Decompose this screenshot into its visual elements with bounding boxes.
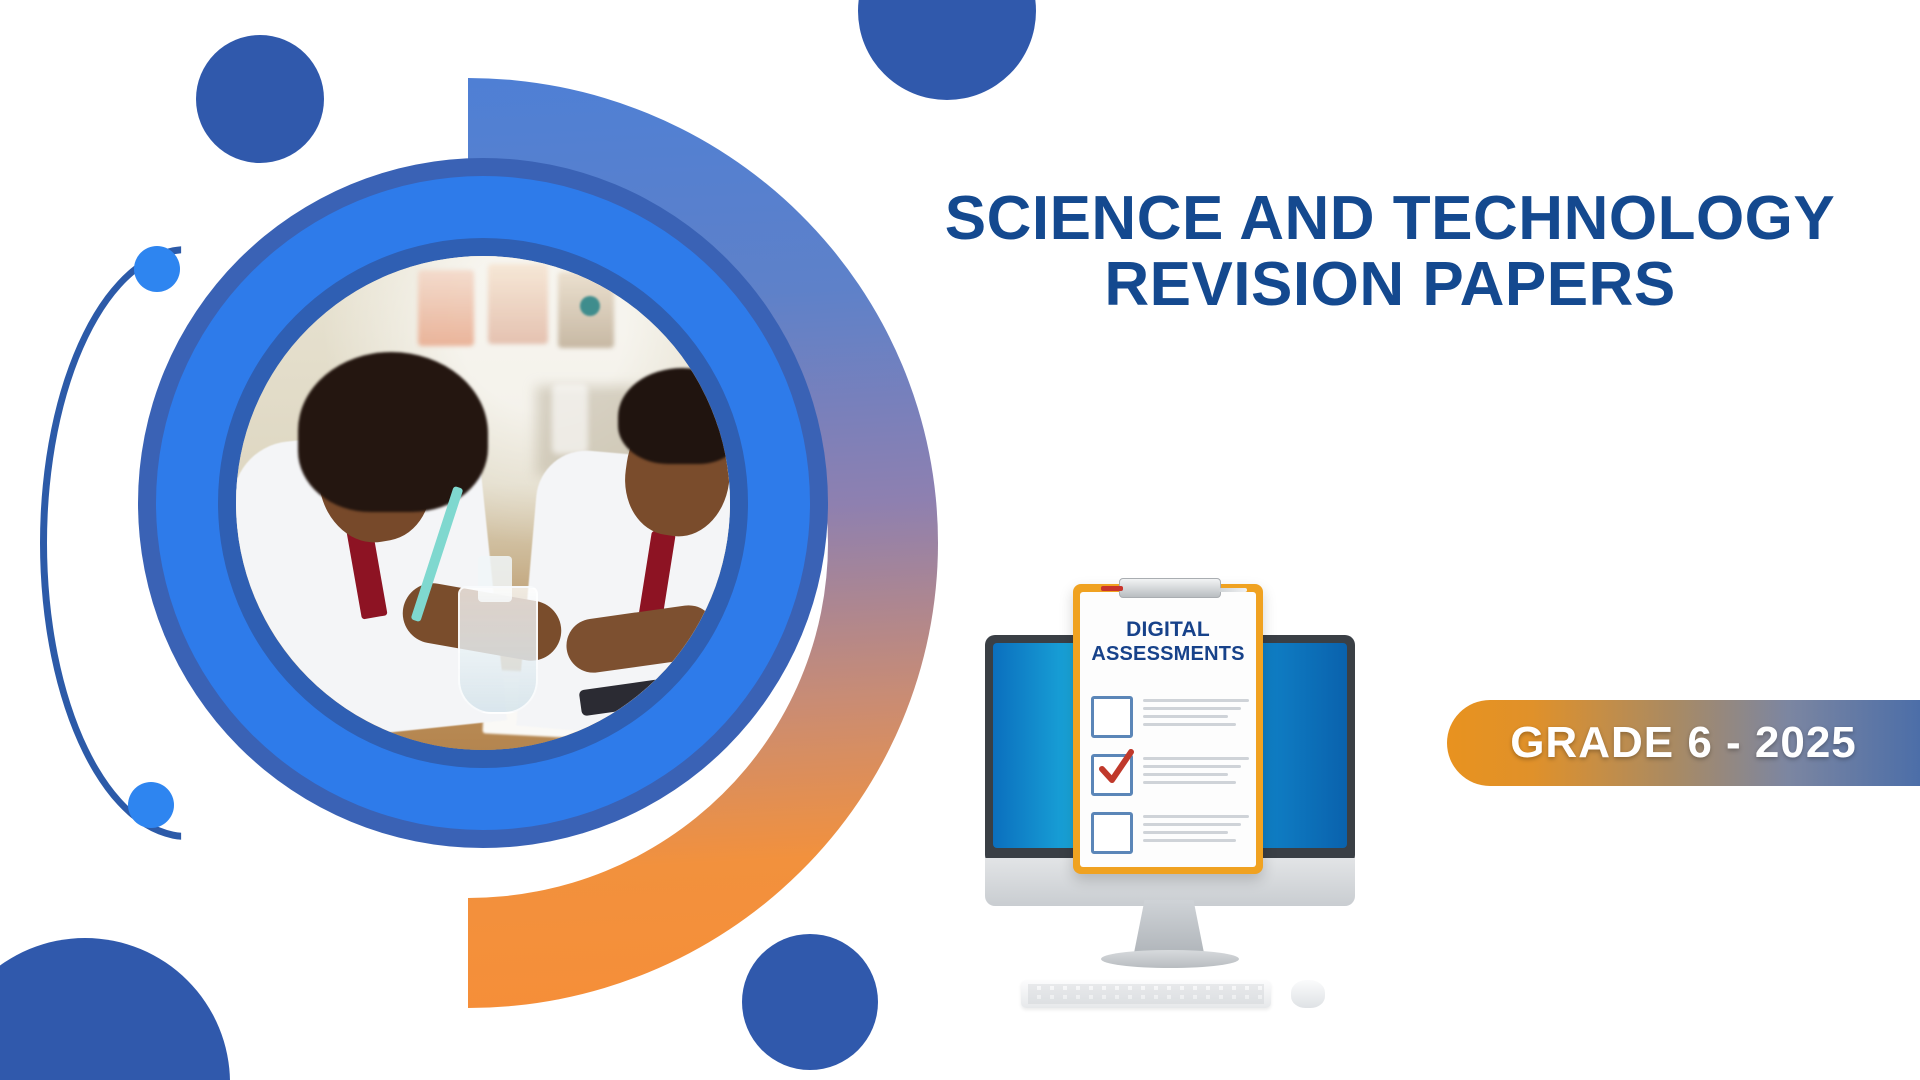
clipboard-checklist xyxy=(1091,696,1249,870)
clipboard-heading-line-1: DIGITAL xyxy=(1126,618,1210,641)
background-beaker xyxy=(552,384,588,454)
checklist-text-lines xyxy=(1143,696,1249,731)
wall-art-2 xyxy=(488,264,548,344)
mouse-icon xyxy=(1291,980,1325,1008)
clipboard-heading: DIGITAL ASSESSMENTS xyxy=(1073,618,1263,666)
grade-badge: GRADE 6 - 2025 xyxy=(1447,700,1920,786)
glass-flask xyxy=(458,586,538,714)
page-title-line-2: REVISION PAPERS xyxy=(900,252,1880,318)
monitor-foot xyxy=(1101,950,1239,968)
decorative-dot-top xyxy=(134,246,180,292)
poster-canvas: SCIENCE AND TECHNOLOGY REVISION PAPERS D… xyxy=(0,0,1920,1080)
student-lab-photo xyxy=(236,256,730,750)
checklist-text-lines xyxy=(1143,812,1249,847)
student-hair-right xyxy=(618,368,730,464)
checklist-item xyxy=(1091,812,1249,854)
clipboard-red-pin xyxy=(1101,586,1123,591)
clipboard-clamp xyxy=(1119,578,1221,598)
checklist-text-lines xyxy=(1143,754,1249,789)
checkbox-unchecked-icon xyxy=(1091,812,1133,854)
grade-badge-label: GRADE 6 - 2025 xyxy=(1510,718,1857,768)
page-title: SCIENCE AND TECHNOLOGY REVISION PAPERS xyxy=(900,186,1880,319)
checkmark-icon xyxy=(1097,749,1135,787)
checklist-item xyxy=(1091,754,1249,796)
decorative-dot-bottom xyxy=(128,782,174,828)
checkbox-checked-icon xyxy=(1091,754,1133,796)
clipboard-silver-pin xyxy=(1219,588,1247,592)
keyboard-icon xyxy=(1021,980,1271,1008)
digital-assessment-illustration: DIGITAL ASSESSMENTS xyxy=(975,600,1375,1000)
clipboard-heading-line-2: ASSESSMENTS xyxy=(1073,643,1263,667)
checklist-item xyxy=(1091,696,1249,738)
keyboard-keys xyxy=(1028,984,1264,1004)
decorative-circle-top-left xyxy=(196,35,324,163)
decorative-circle-bottom-left xyxy=(0,938,230,1080)
wall-art-1 xyxy=(418,270,474,346)
checkbox-unchecked-icon xyxy=(1091,696,1133,738)
wall-art-dot xyxy=(580,296,600,316)
clipboard: DIGITAL ASSESSMENTS xyxy=(1073,584,1263,874)
page-title-line-1: SCIENCE AND TECHNOLOGY xyxy=(900,186,1880,252)
